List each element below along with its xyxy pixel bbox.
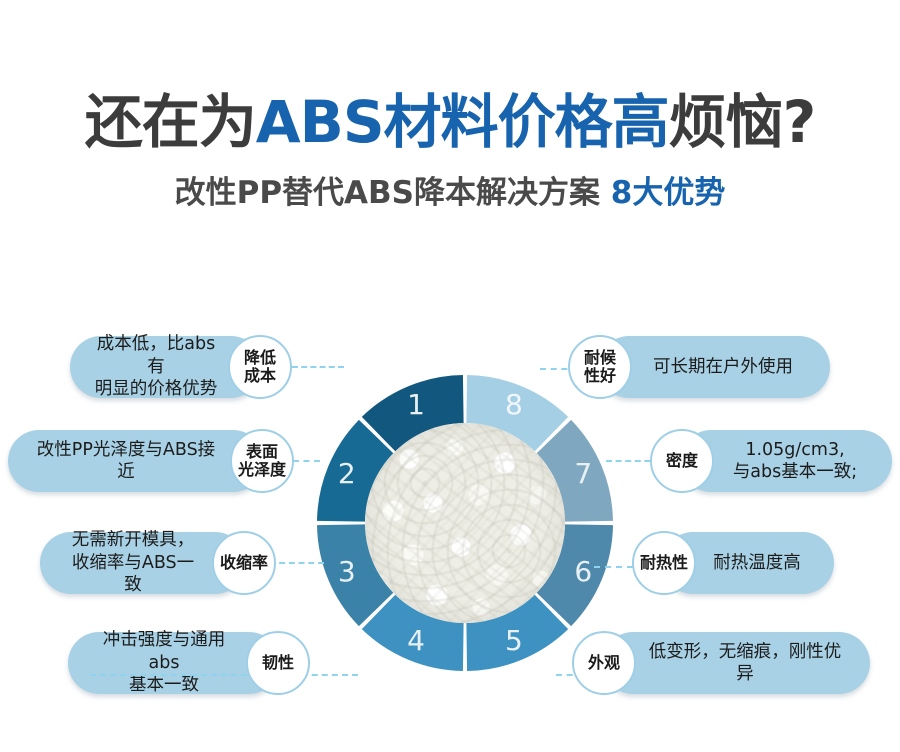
advantages-donut-chart: 12345678: [317, 375, 613, 671]
page-title: 还在为ABS材料价格高烦恼?: [0, 0, 900, 153]
title-text-pre: 还在为: [85, 88, 256, 156]
subtitle-text-pre: 改性PP替代ABS降本解决方案: [175, 175, 611, 211]
advantage-badge-6: 耐热性: [632, 531, 696, 595]
advantage-badge-4: 韧性: [246, 631, 310, 695]
advantage-card-2[interactable]: 改性PP光泽度与ABS接近 表面 光泽度: [8, 430, 294, 492]
advantage-card-4[interactable]: 冲击强度与通用abs 基本一致 韧性: [68, 632, 310, 694]
header: 还在为ABS材料价格高烦恼? 改性PP替代ABS降本解决方案 8大优势: [0, 0, 900, 212]
pellet-photo-center: [365, 423, 565, 623]
advantage-description-2: 改性PP光泽度与ABS接近: [8, 430, 264, 492]
subtitle-text-highlight: 8大优势: [611, 175, 726, 211]
advantage-card-7[interactable]: 密度 1.05g/cm3, 与abs基本一致;: [650, 430, 892, 492]
advantage-card-5[interactable]: 外观 低变形，无缩痕，刚性优异: [572, 632, 870, 694]
advantage-description-5: 低变形，无缩痕，刚性优异: [602, 632, 870, 694]
advantage-description-8: 可长期在户外使用: [598, 336, 830, 398]
advantage-card-1[interactable]: 成本低，比abs有 明显的价格优势 降低 成本: [70, 336, 292, 398]
connector-line-1: [292, 366, 344, 370]
advantage-card-6[interactable]: 耐热性 耐热温度高: [632, 532, 834, 594]
connector-line-4: [90, 674, 358, 678]
advantage-badge-2: 表面 光泽度: [230, 429, 294, 493]
advantage-badge-7: 密度: [650, 429, 714, 493]
advantage-badge-8: 耐候 性好: [568, 335, 632, 399]
advantage-card-8[interactable]: 耐候 性好 可长期在户外使用: [568, 336, 830, 398]
advantage-card-3[interactable]: 无需新开模具， 收缩率与ABS一致 收缩率: [40, 532, 276, 594]
advantage-badge-5: 外观: [572, 631, 636, 695]
advantage-badge-1: 降低 成本: [228, 335, 292, 399]
title-text-highlight: ABS材料价格高: [256, 88, 669, 156]
advantage-badge-3: 收缩率: [212, 531, 276, 595]
title-text-post: 烦恼?: [669, 88, 816, 156]
page-subtitle: 改性PP替代ABS降本解决方案 8大优势: [0, 153, 900, 212]
